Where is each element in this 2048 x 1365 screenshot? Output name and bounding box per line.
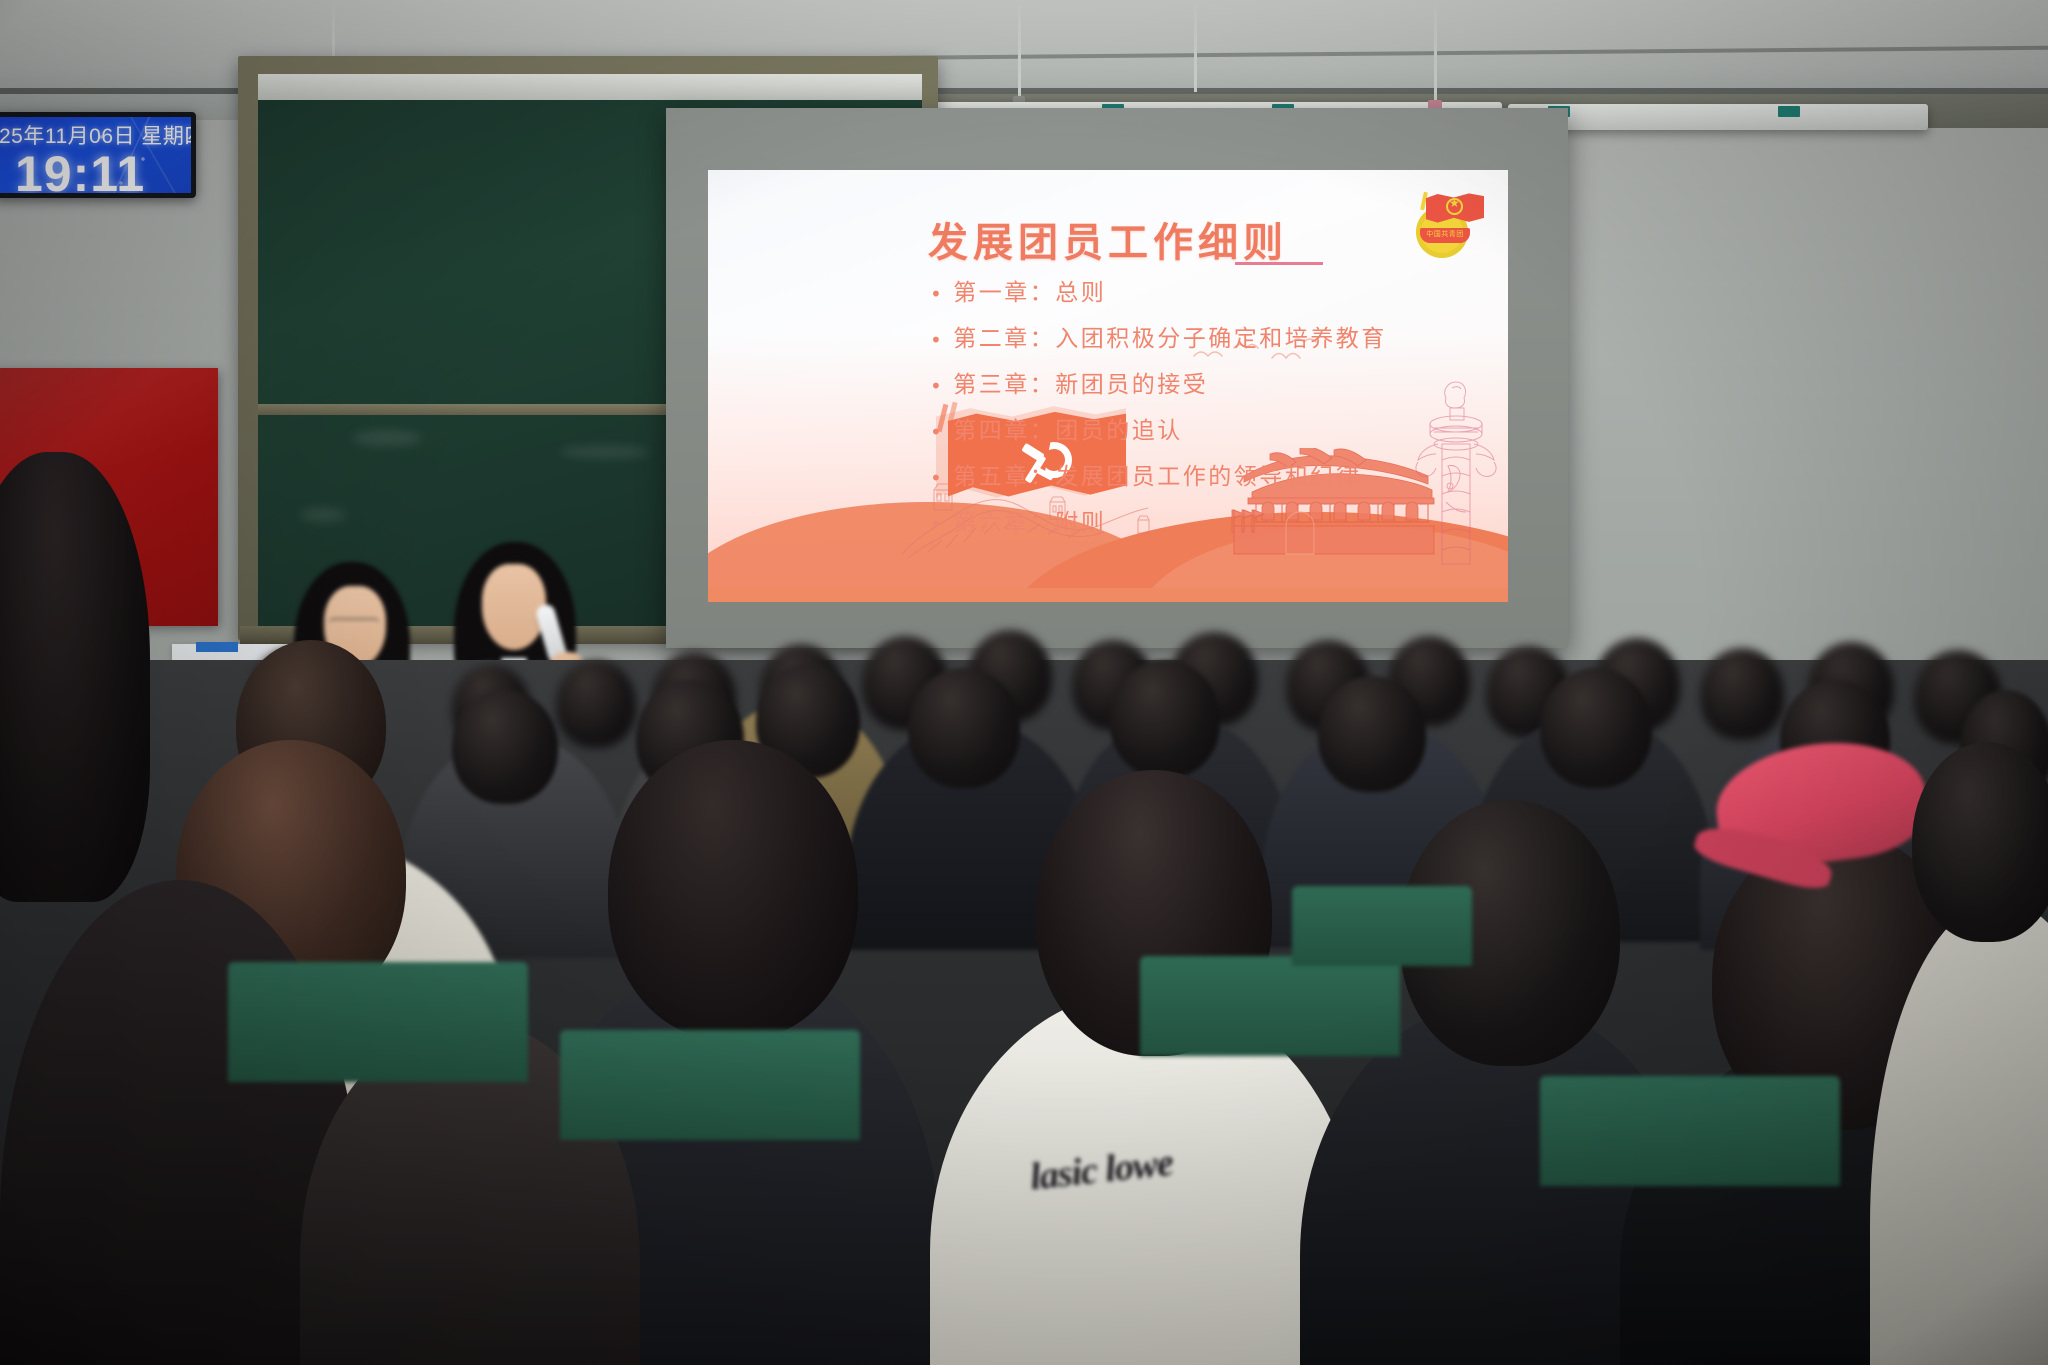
slide-bullet-list: • 第一章：总则 • 第二章：入团积极分子确定和培养教育 • 第三章：新团员的接… bbox=[930, 282, 1490, 558]
bullet-marker: • bbox=[930, 466, 944, 488]
bullet-text: 第四章：团员的追认 bbox=[953, 420, 1183, 443]
audience-head bbox=[556, 660, 636, 748]
led-clock-panel: 25年11月06日 星期四 19:11 bbox=[0, 112, 196, 198]
control-panel-label bbox=[196, 642, 238, 652]
slide-bullet-item: • 第四章：团员的追认 bbox=[930, 420, 1490, 443]
bullet-text: 第二章：入团积极分子确定和培养教育 bbox=[953, 328, 1387, 351]
ceiling-light-fixture bbox=[1508, 104, 1928, 130]
bullet-text: 第五章：发展团员工作的领导和纪律 bbox=[953, 466, 1361, 489]
bullet-marker: • bbox=[930, 282, 944, 304]
chalk-smudge bbox=[352, 430, 422, 446]
audience-head bbox=[1912, 742, 2048, 942]
slide-bullet-item: • 第五章：发展团员工作的领导和纪律 bbox=[930, 466, 1490, 489]
bullet-text: 第六章：附则 bbox=[953, 512, 1106, 535]
slide-bullet-item: • 第六章：附则 bbox=[930, 512, 1490, 535]
audience-head bbox=[0, 452, 150, 902]
auditorium-seat bbox=[1292, 886, 1472, 966]
classroom-scene: 25年11月06日 星期四 19:11 bbox=[0, 0, 2048, 1365]
slide-bullet-item: • 第二章：入团积极分子确定和培养教育 bbox=[930, 328, 1490, 351]
slide-bullet-item: • 第一章：总则 bbox=[930, 282, 1490, 305]
glasses-icon bbox=[328, 618, 380, 631]
audience-head bbox=[1318, 676, 1426, 792]
slide-title: 发展团员工作细则 bbox=[708, 210, 1508, 268]
light-tab bbox=[1778, 106, 1800, 117]
bullet-text: 第一章：总则 bbox=[953, 282, 1106, 305]
audience-head bbox=[452, 690, 558, 804]
auditorium-seat bbox=[560, 1030, 860, 1140]
audience-head bbox=[1110, 660, 1220, 778]
bullet-marker: • bbox=[930, 512, 944, 534]
slide-bullet-item: • 第三章：新团员的接受 bbox=[930, 374, 1490, 397]
bullet-text: 第三章：新团员的接受 bbox=[953, 374, 1208, 397]
auditorium-seat bbox=[1140, 956, 1400, 1056]
bullet-marker: • bbox=[930, 328, 944, 350]
presenter-face bbox=[482, 564, 546, 650]
light-rod bbox=[1434, 0, 1437, 100]
bullet-marker: • bbox=[930, 420, 944, 442]
chalk-smudge bbox=[300, 508, 346, 522]
slide-title-underline bbox=[1235, 262, 1323, 265]
blackboard-top-rail bbox=[258, 74, 922, 100]
auditorium-seat bbox=[228, 962, 528, 1082]
slide-bottom-strip bbox=[708, 588, 1508, 602]
auditorium-seat bbox=[1540, 1076, 1840, 1186]
light-rod bbox=[1018, 0, 1021, 96]
audience-head bbox=[1700, 648, 1784, 740]
presentation-slide: 中国共青团 发展团员工作细则 • 第一章：总则 • 第二章：入团积极分子确定和培… bbox=[708, 170, 1508, 602]
bullet-marker: • bbox=[930, 374, 944, 396]
audience-head bbox=[608, 740, 858, 1040]
audience-head bbox=[908, 668, 1020, 788]
clock-time: 19:11 bbox=[0, 150, 191, 198]
light-rod bbox=[1194, 0, 1197, 92]
audience-head bbox=[1540, 668, 1652, 788]
chalk-smudge bbox=[560, 446, 650, 458]
